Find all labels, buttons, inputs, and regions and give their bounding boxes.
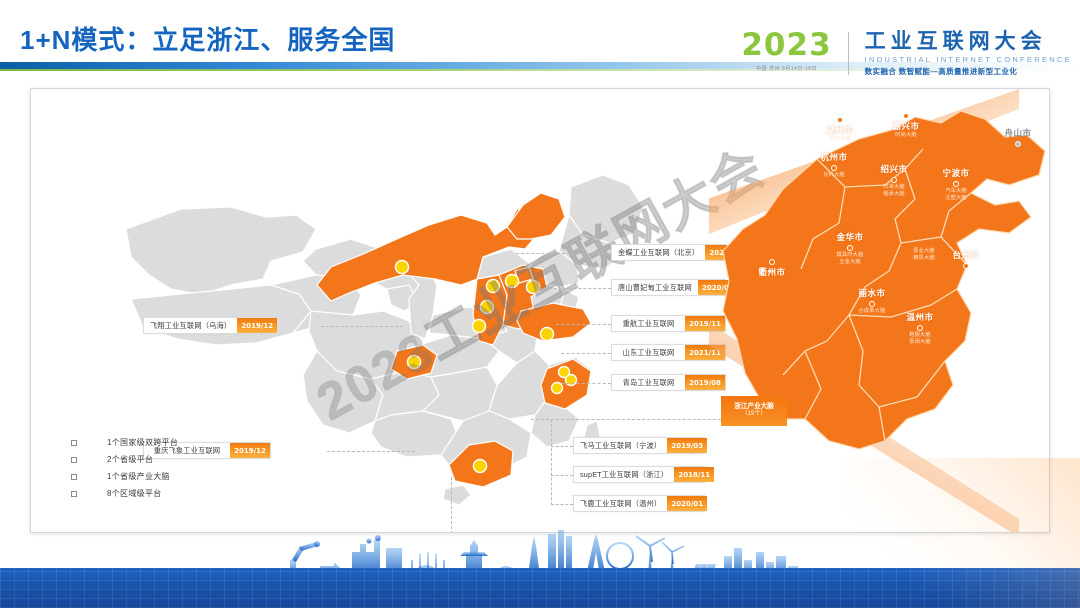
leader-line xyxy=(551,504,573,505)
logo-name-en: INDUSTRIAL INTERNET CONFERENCE xyxy=(865,55,1072,64)
logo-year: 2023 xyxy=(741,30,831,61)
leader-line xyxy=(321,326,403,327)
callout-name: 唐山曹妃甸工业互联网 xyxy=(612,280,698,295)
callout-date: 2019/12 xyxy=(237,318,277,333)
leader-line xyxy=(516,253,611,254)
leader-line-vertical xyxy=(451,477,452,533)
callout-box[interactable]: 飞鹿工业互联网（温州） 2020/01 xyxy=(573,495,705,512)
legend-label: 8个区域级平台 xyxy=(107,488,162,499)
leader-line xyxy=(561,383,611,384)
leader-line xyxy=(327,451,415,452)
callout-name: 青岛工业互联网 xyxy=(612,375,685,390)
logo-divider xyxy=(848,32,849,75)
page-title: 1+N模式：立足浙江、服务全国 xyxy=(20,20,395,57)
callout-box[interactable]: 飞翔工业互联网（乌海） 2019/12 xyxy=(143,317,271,334)
logo-year-block: 2023 中国·苏州 8月14日-16日 xyxy=(741,30,839,72)
leader-line xyxy=(561,353,611,354)
callout-date: 2019/12 xyxy=(230,443,270,458)
leader-line xyxy=(556,324,611,325)
legend-item: 2个省级平台 xyxy=(71,454,178,465)
callout-name: 飞翔工业互联网（乌海） xyxy=(144,318,237,333)
legend-square-icon xyxy=(71,457,77,463)
callout-date: 2019/03 xyxy=(667,438,707,453)
logo-text-block: 工业互联网大会 INDUSTRIAL INTERNET CONFERENCE 数… xyxy=(857,30,1072,77)
legend: 1个国家级双跨平台 2个省级平台 1个省级产业大脑 8个区域级平台 xyxy=(71,437,178,505)
leader-line-vertical xyxy=(551,419,552,505)
callout-name: 重航工业互联网 xyxy=(612,316,685,331)
callout-name: 山东工业互联网 xyxy=(612,345,685,360)
logo-slogan: 数实融合 数智赋能—高质量推进新型工业化 xyxy=(865,66,1072,77)
legend-label: 1个国家级双跨平台 xyxy=(107,437,178,448)
legend-item: 8个区域级平台 xyxy=(71,488,178,499)
zhejiang-brain-count: （15个） xyxy=(742,411,767,419)
legend-square-icon xyxy=(71,474,77,480)
callout-name: 飞鹿工业互联网（温州） xyxy=(574,496,667,511)
logo-name-cn: 工业互联网大会 xyxy=(865,30,1072,53)
legend-square-icon xyxy=(71,491,77,497)
callout-name: 飞马工业互联网（宁波） xyxy=(574,438,667,453)
leader-line xyxy=(539,288,611,289)
legend-label: 1个省级产业大脑 xyxy=(107,471,170,482)
legend-item: 1个省级产业大脑 xyxy=(71,471,178,482)
callout-name: supET工业互联网（浙江） xyxy=(574,467,674,482)
legend-square-icon xyxy=(71,440,77,446)
leader-line xyxy=(551,475,573,476)
callout-date: 2020/01 xyxy=(667,496,707,511)
leader-line xyxy=(531,419,726,420)
content-panel: 2023工业互联网大会 金蝶工业互联网（北京） 2022/03 唐山曹妃甸工业互… xyxy=(30,88,1050,533)
conference-logo: 2023 中国·苏州 8月14日-16日 工业互联网大会 INDUSTRIAL … xyxy=(741,30,1072,77)
legend-item: 1个国家级双跨平台 xyxy=(71,437,178,448)
zhejiang-inset-map: 湖州市 纺织大脑 嘉兴市 时尚大脑 杭州市 化纤大脑 绍兴市 印染大脑 轴承大脑… xyxy=(709,89,1049,533)
zhejiang-brain-badge[interactable]: 浙江产业大脑 （15个） xyxy=(721,396,787,426)
callout-name: 金蝶工业互联网（北京） xyxy=(612,245,705,260)
logo-date: 中国·苏州 8月14日-16日 xyxy=(741,65,831,72)
footer-decoration xyxy=(0,533,1080,608)
footer-grid-pattern xyxy=(0,568,1080,608)
callout-box[interactable]: supET工业互联网（浙江） 2018/11 xyxy=(573,466,705,483)
leader-line xyxy=(551,446,573,447)
callout-box[interactable]: 飞马工业互联网（宁波） 2019/03 xyxy=(573,437,705,454)
legend-label: 2个省级平台 xyxy=(107,454,153,465)
